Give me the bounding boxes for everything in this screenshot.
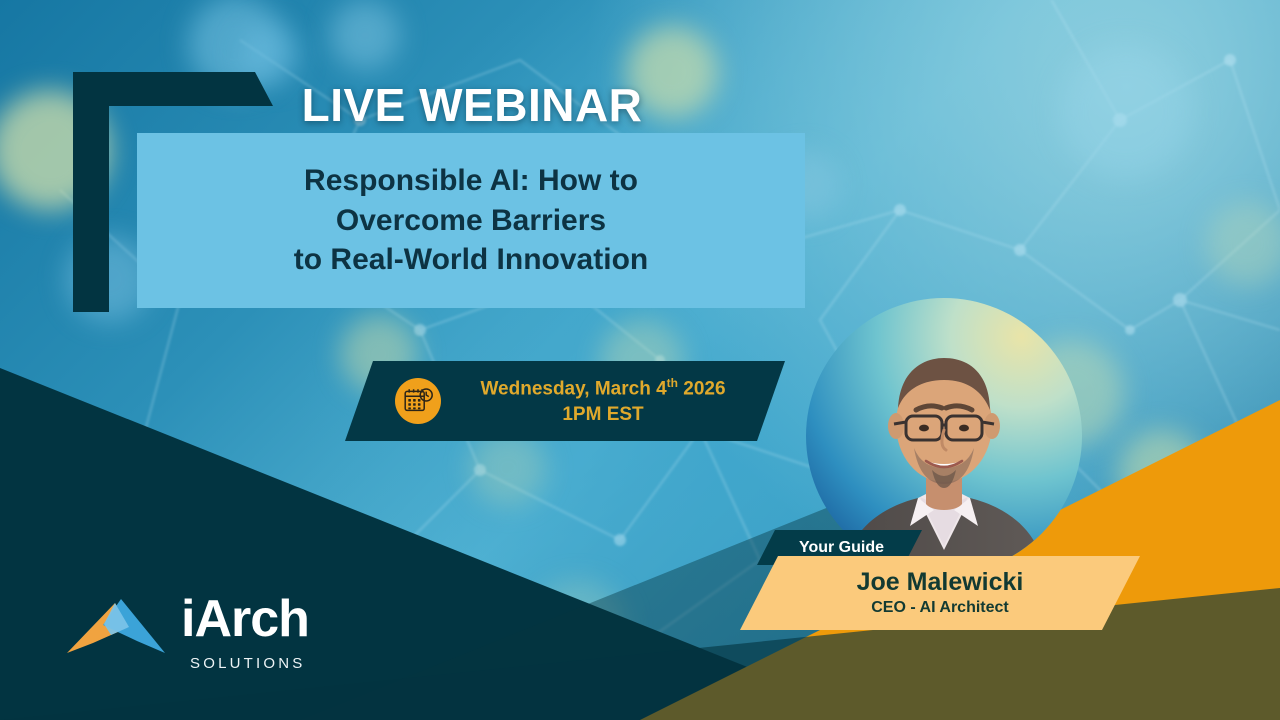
webinar-promo-canvas: LIVE WEBINAR Responsible AI: How to Over…	[0, 0, 1280, 720]
bokeh-dot	[470, 430, 546, 506]
event-date-line: Wednesday, March 4th 2026	[447, 375, 759, 402]
webinar-title-panel: Responsible AI: How to Overcome Barriers…	[137, 133, 805, 308]
page-title: Responsible AI: How to Overcome Barriers…	[294, 161, 648, 281]
title-line-3: to Real-World Innovation	[294, 240, 648, 280]
event-datetime: Wednesday, March 4th 2026 1PM EST	[441, 375, 785, 428]
logo-tagline: SOLUTIONS	[190, 655, 305, 672]
speaker-role: CEO - AI Architect	[871, 599, 1009, 617]
event-date-ordinal: th	[667, 376, 678, 390]
speaker-panel: Joe Malewicki CEO - AI Architect	[740, 556, 1140, 630]
calendar-clock-icon	[395, 378, 441, 424]
bokeh-dot	[330, 0, 400, 70]
your-guide-label: Your Guide	[795, 539, 884, 557]
event-date-year: 2026	[678, 378, 726, 399]
page-kicker: LIVE WEBINAR	[137, 78, 807, 132]
bokeh-dot	[1206, 202, 1280, 286]
event-time-line: 1PM EST	[447, 402, 759, 428]
logo-wordmark: iArch	[181, 593, 309, 645]
bokeh-dot	[1060, 46, 1192, 178]
title-line-1: Responsible AI: How to	[294, 161, 648, 201]
event-date-prefix: Wednesday, March 4	[480, 378, 666, 399]
iarch-mark-icon	[63, 597, 169, 655]
event-date-banner: Wednesday, March 4th 2026 1PM EST	[345, 361, 785, 441]
title-line-2: Overcome Barriers	[294, 201, 648, 241]
logo[interactable]: iArch SOLUTIONS	[63, 597, 278, 679]
speaker-name: Joe Malewicki	[857, 569, 1024, 595]
